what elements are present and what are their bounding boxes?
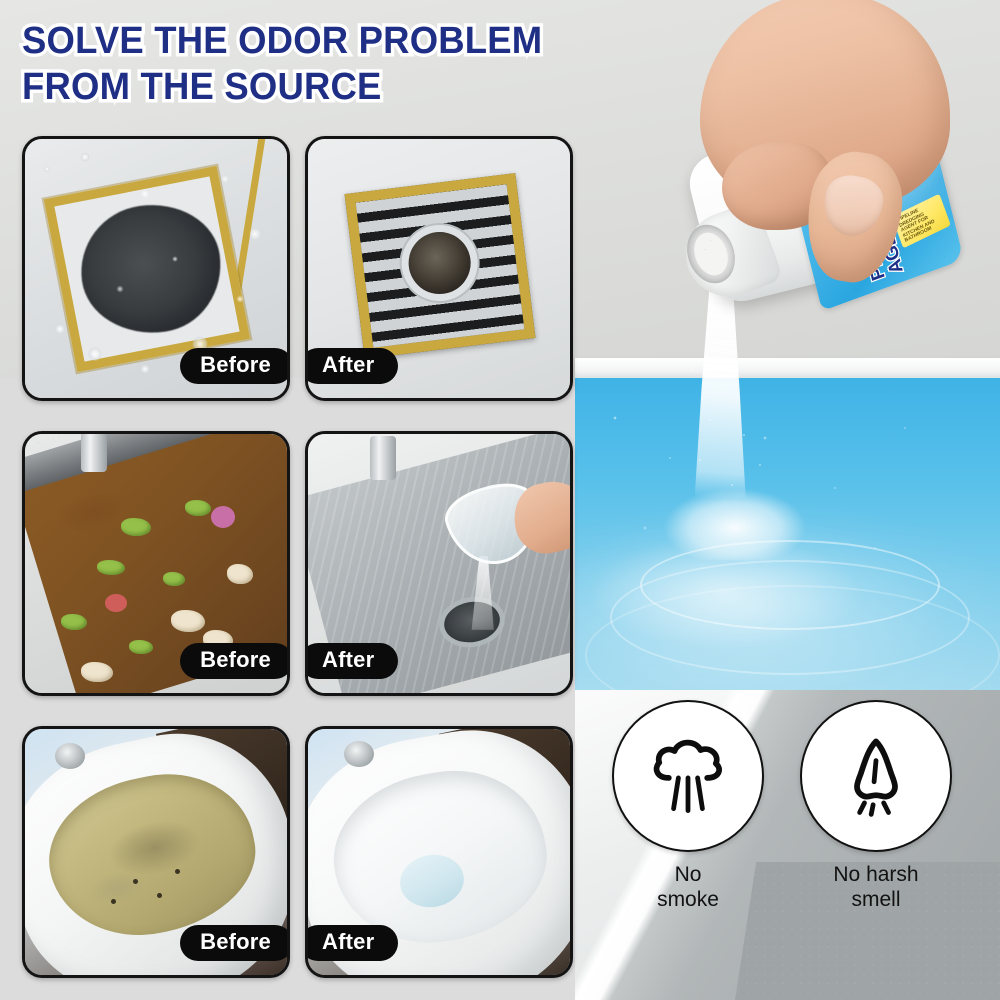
page-title: SOLVE THE ODOR PROBLEM FROM THE SOURCE xyxy=(22,18,694,110)
feature-badges: No smoke No harsh smell xyxy=(612,700,992,912)
badge-no-harsh-smell-line-1: No harsh xyxy=(800,862,952,887)
comparison-row-floor-drain: Before After xyxy=(22,136,574,401)
panel-toilet-before[interactable]: Before xyxy=(22,726,290,978)
headline-line-2: FROM THE SOURCE xyxy=(22,64,694,110)
product-bottle-with-hand: NET : 320ml PIPELINEDREDGE PIPELINE DRED… xyxy=(688,90,1000,350)
panel-toilet-after[interactable]: After xyxy=(305,726,573,978)
before-label: Before xyxy=(180,643,290,679)
badge-no-harsh-smell: No harsh smell xyxy=(800,700,952,912)
headline-line-1: SOLVE THE ODOR PROBLEM xyxy=(22,18,694,64)
before-after-grid: Before After xyxy=(22,136,574,1000)
powder-grains xyxy=(672,360,782,520)
badge-no-harsh-smell-line-2: smell xyxy=(800,887,952,912)
badge-no-smoke: No smoke xyxy=(612,700,764,912)
after-label: After xyxy=(305,643,398,679)
nose-icon xyxy=(800,700,952,852)
hand-holding-bottle xyxy=(688,90,1000,320)
panel-kitchen-sink-before[interactable]: Before xyxy=(22,431,290,696)
after-label: After xyxy=(305,925,398,961)
panel-floor-drain-after[interactable]: After xyxy=(305,136,573,401)
badge-no-smoke-line-1: No xyxy=(612,862,764,887)
badge-no-smoke-label: No smoke xyxy=(612,862,764,912)
after-label: After xyxy=(305,348,398,384)
badge-no-harsh-smell-label: No harsh smell xyxy=(800,862,952,912)
panel-kitchen-sink-after[interactable]: After xyxy=(305,431,573,696)
badge-no-smoke-line-2: smoke xyxy=(612,887,764,912)
before-label: Before xyxy=(180,348,290,384)
before-label: Before xyxy=(180,925,290,961)
comparison-row-toilet: Before After xyxy=(22,726,574,978)
comparison-row-kitchen-sink: Before After xyxy=(22,431,574,696)
smoke-cloud-icon xyxy=(612,700,764,852)
panel-floor-drain-before[interactable]: Before xyxy=(22,136,290,401)
